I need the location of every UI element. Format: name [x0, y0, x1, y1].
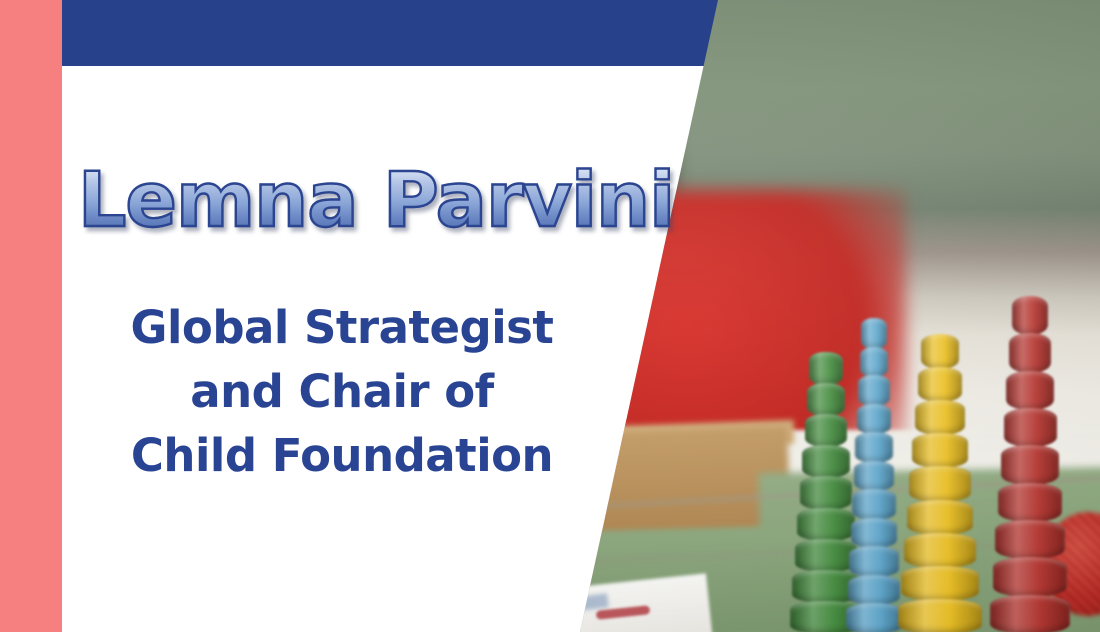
page-title: Lemna Parvini	[78, 162, 674, 238]
tower-disc	[854, 461, 895, 492]
tower-disc	[915, 400, 965, 435]
left-accent-bar	[0, 0, 62, 632]
tower-disc	[849, 546, 899, 577]
tower-disc	[858, 375, 890, 406]
tower-disc	[1009, 333, 1051, 372]
tower-disc	[993, 557, 1068, 596]
yellow-disc-tower	[898, 334, 982, 632]
subtitle-line-1: Global Strategist	[62, 296, 622, 360]
tower-disc	[990, 595, 1070, 632]
tower-disc	[851, 518, 898, 549]
tower-disc	[901, 566, 979, 601]
tower-disc	[1006, 371, 1054, 410]
tower-disc	[904, 533, 977, 568]
tower-disc	[1004, 408, 1057, 447]
subtitle-line-3: Child Foundation	[62, 424, 622, 488]
tower-disc	[846, 603, 902, 632]
tower-disc	[860, 347, 889, 378]
tower-disc	[861, 318, 887, 349]
speaker-announcement-banner: Lemna Parvini Global Strategist and Chai…	[0, 0, 1100, 632]
subtitle: Global Strategist and Chair of Child Fou…	[62, 296, 622, 488]
tower-disc	[805, 414, 848, 447]
tower-disc	[998, 483, 1062, 522]
tower-disc	[907, 500, 974, 535]
tower-disc	[809, 352, 842, 385]
tower-disc	[800, 476, 853, 509]
tower-disc	[802, 445, 850, 478]
tower-disc	[912, 433, 968, 468]
tower-disc	[857, 404, 892, 435]
tower-disc	[995, 520, 1064, 559]
tower-disc	[807, 383, 845, 416]
subtitle-line-2: and Chair of	[62, 360, 622, 424]
tower-disc	[918, 367, 962, 402]
tower-disc	[909, 466, 970, 501]
tower-disc	[855, 432, 893, 463]
tower-disc	[848, 575, 901, 606]
tower-disc	[1012, 296, 1049, 335]
tower-disc	[1001, 445, 1059, 484]
tower-disc	[898, 599, 982, 632]
red-disc-tower	[990, 296, 1070, 632]
tower-disc	[852, 489, 896, 520]
blue-disc-tower	[846, 318, 902, 632]
tower-disc	[921, 334, 960, 369]
